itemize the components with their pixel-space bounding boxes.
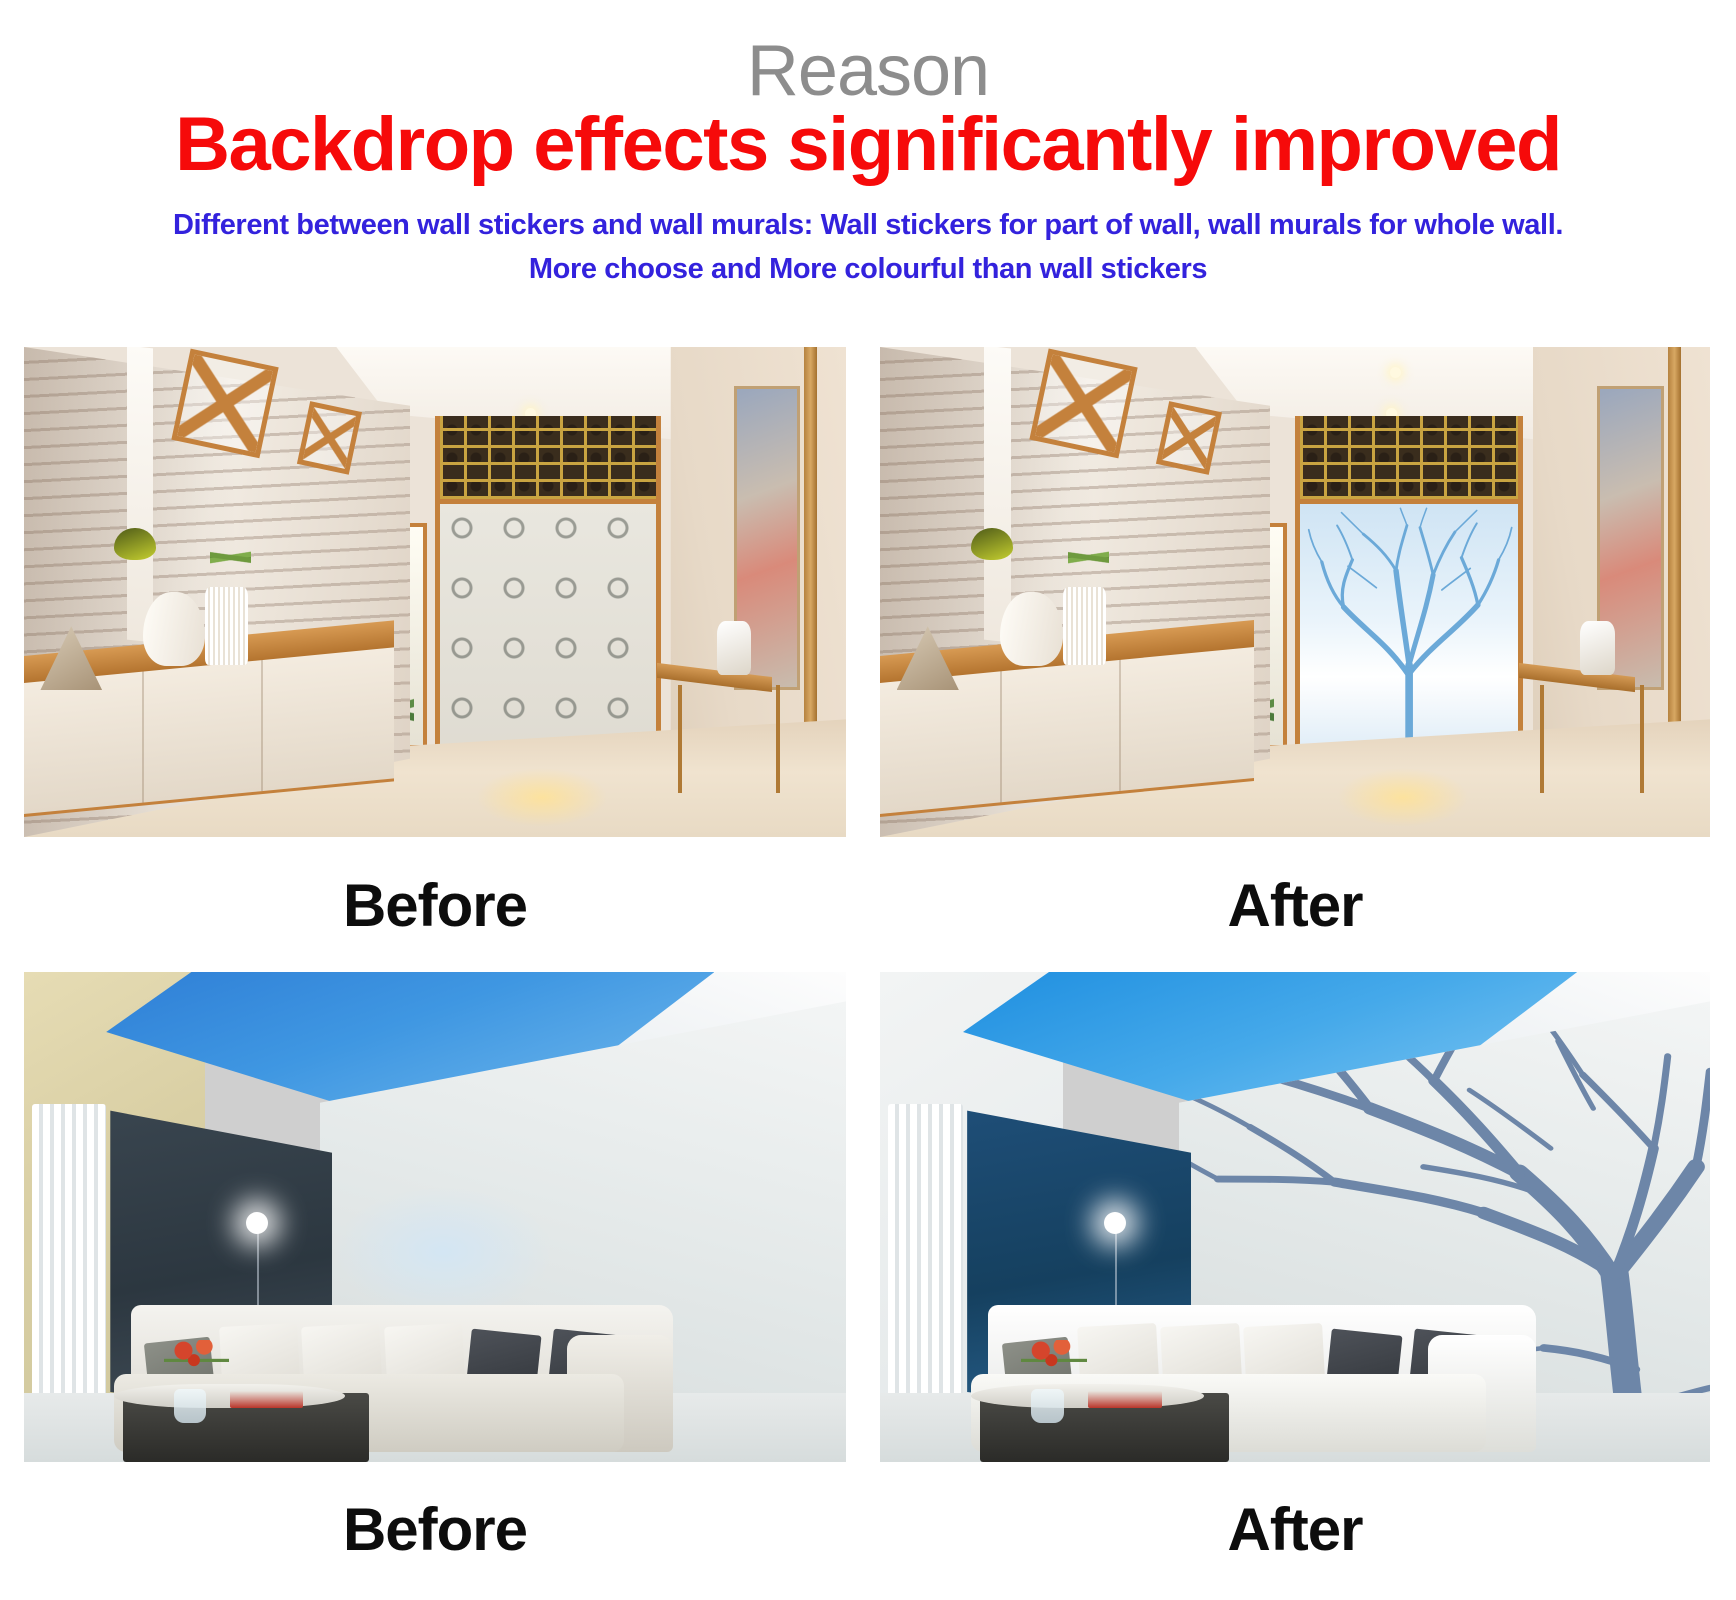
lattice-screen (1300, 416, 1518, 504)
book (230, 1391, 304, 1408)
plant-leaves (210, 523, 251, 592)
lattice-screen (440, 416, 656, 504)
table-ornament (1580, 621, 1615, 675)
caption-living-room-before: Before (24, 1498, 846, 1562)
glass-vase (174, 1389, 207, 1423)
table-ornament (717, 621, 752, 675)
wall-medallion-large (171, 348, 279, 458)
end-wall-alcove (1295, 416, 1523, 788)
comparison-image-living-room-before (24, 972, 846, 1462)
plant-leaves (1068, 523, 1110, 592)
comparison-image-hallway-before (24, 347, 846, 837)
wall-light-glow (336, 1188, 550, 1315)
white-vase-ribbed (1063, 587, 1106, 665)
comparison-image-hallway-after (880, 347, 1710, 837)
white-vase-ribbed (205, 587, 248, 665)
book (1088, 1391, 1163, 1408)
wall-medallion-large (1029, 348, 1138, 458)
caption-hallway-after: After (880, 874, 1710, 938)
floor-light-reflection (476, 768, 608, 827)
floor-light-reflection (1337, 768, 1470, 827)
caption-hallway-before: Before (24, 874, 846, 938)
wall-light-slit (127, 347, 153, 642)
white-vase-round (1000, 592, 1062, 666)
wall-lamp (114, 528, 155, 559)
subtitle-line-1: Different between wall stickers and wall… (0, 208, 1736, 242)
living-room-scene-before (24, 972, 846, 1462)
wall-lamp (971, 528, 1013, 559)
downlight-icon (1390, 367, 1401, 378)
end-wall-alcove (435, 416, 661, 788)
wall-light-slit (984, 347, 1011, 642)
flowers (164, 1340, 230, 1394)
pendant-light-icon (246, 1212, 268, 1234)
promo-banner: Reason Backdrop effects significantly im… (0, 0, 1736, 1600)
page-title: Backdrop effects significantly improved (0, 102, 1736, 188)
caption-living-room-after: After (880, 1498, 1710, 1562)
glass-vase (1031, 1389, 1064, 1423)
hallway-scene-after (880, 347, 1710, 837)
subtitle-line-2: More choose and More colourful than wall… (0, 252, 1736, 286)
comparison-image-living-room-after (880, 972, 1710, 1462)
hallway-scene-before (24, 347, 846, 837)
white-vase-round (143, 592, 205, 666)
eyebrow-heading: Reason (0, 32, 1736, 110)
living-room-scene-after (880, 972, 1710, 1462)
flowers (1021, 1340, 1087, 1394)
